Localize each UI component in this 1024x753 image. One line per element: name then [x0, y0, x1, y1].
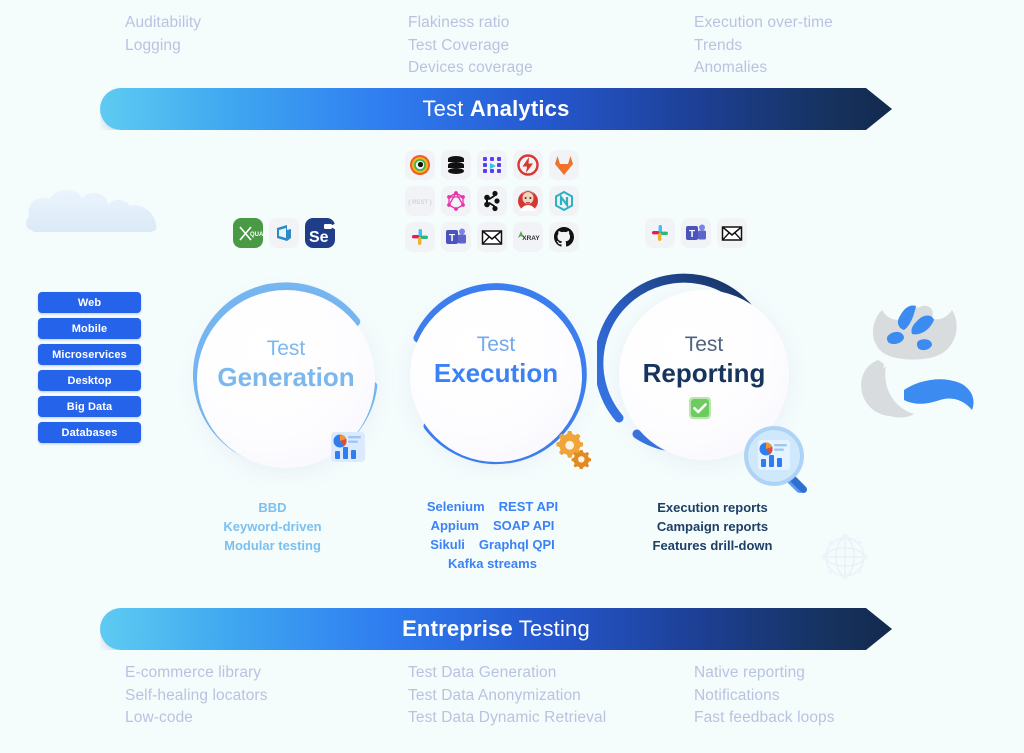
fox-mascot-logo — [848, 300, 980, 430]
postman-icon[interactable] — [405, 150, 435, 180]
technique-item: SOAP API — [493, 516, 554, 535]
platform-button-mobile[interactable]: Mobile — [38, 318, 141, 339]
feature-item: Anomalies — [694, 57, 833, 80]
microsoft-teams-icon[interactable]: T — [441, 222, 471, 252]
xray-icon[interactable]: XRAY — [513, 222, 543, 252]
top-feature-column-1: Auditability Logging — [125, 12, 201, 57]
generation-label: Test Generation — [175, 338, 397, 391]
cloud-shape — [24, 186, 160, 238]
top-feature-column-2: Flakiness ratio Test Coverage Devices co… — [408, 12, 533, 80]
reporting-line1: Test — [597, 334, 811, 357]
svg-text:QUAL: QUAL — [250, 232, 263, 238]
reporting-output-list: Execution reports Campaign reports Featu… — [610, 498, 815, 555]
technique-item: Keyword-driven — [180, 517, 365, 536]
chart-report-icon — [328, 427, 368, 467]
banner-label-regular: Test — [422, 96, 469, 121]
platform-button-big-data[interactable]: Big Data — [38, 396, 141, 417]
slack-icon[interactable] — [405, 222, 435, 252]
svg-text:Se: Se — [309, 229, 329, 246]
green-check-icon — [688, 396, 712, 420]
email-icon[interactable] — [477, 222, 507, 252]
banner-label: Entreprise Testing — [402, 616, 590, 642]
globe-network-icon — [818, 530, 872, 584]
technique-item: Modular testing — [180, 536, 365, 555]
feature-item: Self-healing locators — [125, 685, 268, 708]
graphql-icon[interactable] — [441, 186, 471, 216]
technique-item: Appium — [431, 516, 479, 535]
banner-label: Test Analytics — [422, 96, 569, 122]
technique-row: SikuliGraphql QPI — [385, 535, 600, 554]
bottom-feature-column-2: Test Data Generation Test Data Anonymiza… — [408, 662, 606, 730]
diagram-canvas: Auditability Logging Flakiness ratio Tes… — [0, 0, 1024, 753]
reporting-label: Test Reporting — [597, 334, 811, 387]
report-item: Campaign reports — [610, 517, 815, 536]
banner-label-bold: Entreprise — [402, 616, 513, 641]
bottom-feature-column-1: E-commerce library Self-healing locators… — [125, 662, 268, 730]
generation-line2: Generation — [175, 363, 397, 391]
feature-item: Fast feedback loops — [694, 707, 835, 730]
jenkins-icon[interactable] — [513, 186, 543, 216]
technique-item: REST API — [499, 497, 558, 516]
xqual-icon[interactable]: QUAL — [233, 218, 263, 248]
generation-tool-icons: QUAL Se — [233, 218, 335, 248]
reporting-tool-icons: T — [645, 218, 747, 248]
top-feature-column-3: Execution over-time Trends Anomalies — [694, 12, 833, 80]
technique-item: Sikuli — [430, 535, 465, 554]
execution-label: Test Execution — [388, 334, 604, 387]
kafka-icon[interactable] — [477, 186, 507, 216]
feature-item: Flakiness ratio — [408, 12, 533, 35]
technique-row: SeleniumREST API — [385, 497, 600, 516]
github-icon[interactable] — [549, 222, 579, 252]
database-icon[interactable] — [441, 150, 471, 180]
execution-tool-icons: { REST } — [405, 150, 579, 252]
rest-icon[interactable]: { REST } — [405, 186, 435, 216]
platform-button-microservices[interactable]: Microservices — [38, 344, 141, 365]
svg-text:T: T — [689, 229, 695, 240]
reporting-line2: Reporting — [597, 359, 811, 387]
generation-technique-list: BBD Keyword-driven Modular testing — [180, 498, 365, 555]
report-item: Execution reports — [610, 498, 815, 517]
nunit-hexagon-icon[interactable] — [549, 186, 579, 216]
gears-icon — [550, 425, 594, 469]
feature-item: Test Coverage — [408, 35, 533, 58]
execution-technique-list: SeleniumREST API AppiumSOAP API SikuliGr… — [385, 497, 600, 573]
technique-item: Graphql QPI — [479, 535, 555, 554]
feature-item: Native reporting — [694, 662, 835, 685]
feature-item: Test Data Generation — [408, 662, 606, 685]
feature-item: Test Data Anonymization — [408, 685, 606, 708]
entreprise-testing-banner: Entreprise Testing — [100, 608, 892, 650]
feature-item: E-commerce library — [125, 662, 268, 685]
feature-item: Logging — [125, 35, 201, 58]
platform-button-web[interactable]: Web — [38, 292, 141, 313]
technique-item: Kafka streams — [448, 554, 537, 573]
microsoft-teams-icon[interactable]: T — [681, 218, 711, 248]
technique-item: Selenium — [427, 497, 485, 516]
azure-devops-icon[interactable] — [269, 218, 299, 248]
technique-row: AppiumSOAP API — [385, 516, 600, 535]
execution-line1: Test — [388, 334, 604, 357]
technique-row: Kafka streams — [385, 554, 600, 573]
banner-label-regular: Testing — [513, 616, 590, 641]
feature-item: Execution over-time — [694, 12, 833, 35]
magnifier-chart-icon — [736, 418, 822, 498]
email-icon[interactable] — [717, 218, 747, 248]
feature-item: Trends — [694, 35, 833, 58]
gitlab-icon[interactable] — [549, 150, 579, 180]
execution-line2: Execution — [388, 359, 604, 387]
selenium-icon[interactable]: Se — [305, 218, 335, 248]
feature-item: Devices coverage — [408, 57, 533, 80]
feature-item: Low-code — [125, 707, 268, 730]
svg-text:{ REST }: { REST } — [408, 200, 433, 206]
platform-button-list: Web Mobile Microservices Desktop Big Dat… — [38, 292, 141, 448]
platform-button-desktop[interactable]: Desktop — [38, 370, 141, 391]
cucumber-grid-icon[interactable] — [477, 150, 507, 180]
technique-item: BBD — [180, 498, 365, 517]
feature-item: Auditability — [125, 12, 201, 35]
banner-label-bold: Analytics — [470, 96, 570, 121]
slack-icon[interactable] — [645, 218, 675, 248]
platform-button-databases[interactable]: Databases — [38, 422, 141, 443]
svg-text:XRAY: XRAY — [522, 235, 540, 242]
feature-item: Test Data Dynamic Retrieval — [408, 707, 606, 730]
bottom-feature-column-3: Native reporting Notifications Fast feed… — [694, 662, 835, 730]
report-item: Features drill-down — [610, 536, 815, 555]
test-analytics-banner: Test Analytics — [100, 88, 892, 130]
feature-item: Notifications — [694, 685, 835, 708]
generation-line1: Test — [175, 338, 397, 361]
jmeter-icon[interactable] — [513, 150, 543, 180]
svg-text:T: T — [449, 233, 455, 244]
